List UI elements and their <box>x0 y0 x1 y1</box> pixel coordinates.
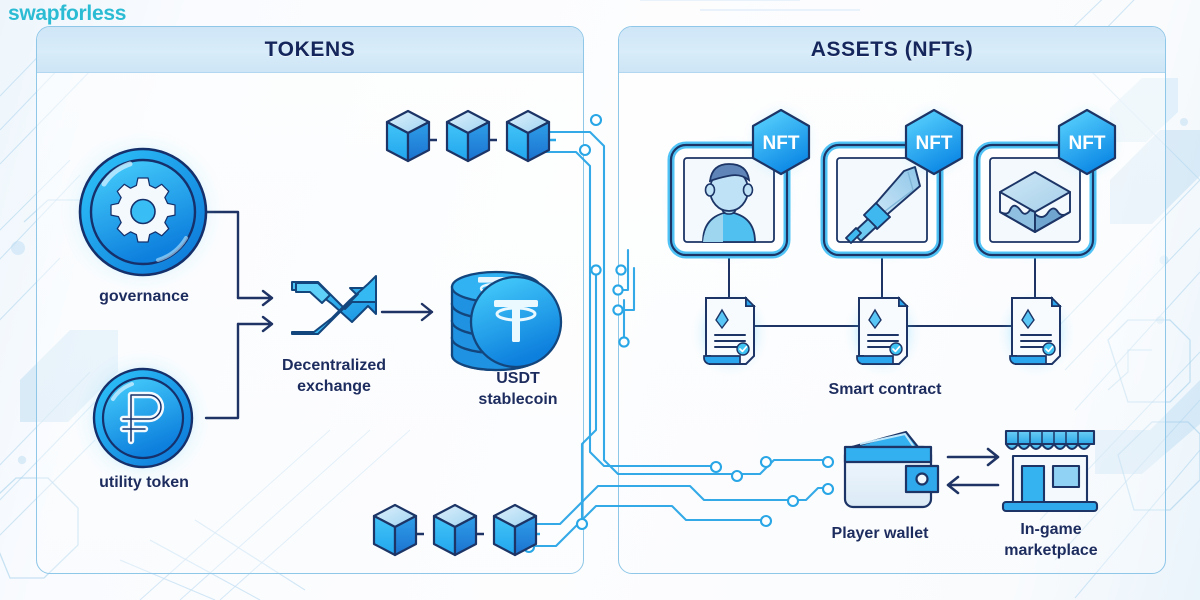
nft-badge-label: NFT <box>1069 133 1106 154</box>
block-cube <box>494 505 536 555</box>
wallet-marketplace-arrows <box>948 449 998 493</box>
wallet-icon <box>845 432 938 507</box>
label-smart-contract: Smart contract <box>790 381 980 399</box>
contract-scroll-icon <box>1003 295 1069 371</box>
label-player-wallet: Player wallet <box>800 525 960 543</box>
token-connector-arrows <box>238 291 432 331</box>
block-cube <box>374 505 416 555</box>
block-cube <box>387 111 429 161</box>
label-utility-token: utility token <box>62 474 226 492</box>
contract-scroll-icon <box>697 295 763 371</box>
nft-badge-label: NFT <box>916 133 953 154</box>
block-cube <box>507 111 549 161</box>
token-connectors <box>206 212 238 418</box>
contract-scroll-icon <box>850 295 916 371</box>
label-dex-line2: exchange <box>252 378 416 396</box>
block-cube <box>447 111 489 161</box>
shuffle-arrows-icon <box>292 276 376 334</box>
utility-token <box>85 360 201 476</box>
storefront-icon <box>1003 431 1097 511</box>
usdt-coin-stack-icon <box>452 272 561 370</box>
label-usdt-line2: stablecoin <box>438 391 598 409</box>
blockchain-top <box>387 111 556 161</box>
governance-token <box>71 140 215 284</box>
gear-icon <box>111 178 175 242</box>
smart-contract-group <box>697 295 1069 371</box>
label-marketplace-line1: In-game <box>975 521 1127 539</box>
infographic-canvas: swapforless TOKENS ASSETS (NFTs) <box>0 0 1200 600</box>
block-cube <box>434 505 476 555</box>
blockchain-bottom <box>374 505 540 555</box>
label-governance: governance <box>70 288 218 306</box>
label-usdt-line1: USDT <box>438 370 598 388</box>
nft-badge-label: NFT <box>763 133 800 154</box>
label-marketplace-line2: marketplace <box>975 542 1127 560</box>
label-dex-line1: Decentralized <box>252 357 416 375</box>
